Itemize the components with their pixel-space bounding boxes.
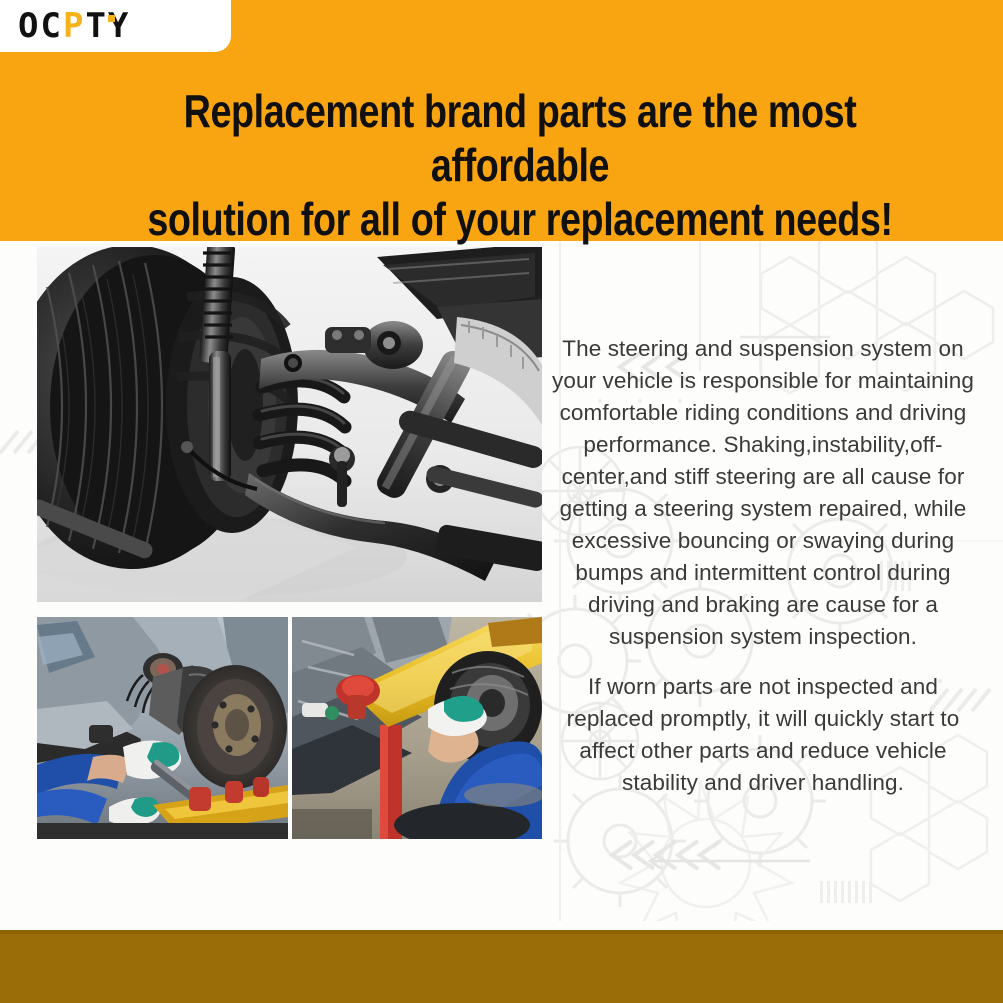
mechanic-brake-service-image bbox=[37, 617, 288, 839]
logo-part-ty: TY bbox=[85, 6, 130, 46]
page-headline: Replacement brand parts are the most aff… bbox=[143, 84, 897, 246]
brand-logo-text: OCPTY bbox=[18, 9, 130, 43]
header-band: OCPTY Replacement brand parts are the mo… bbox=[0, 0, 1003, 241]
logo-dot-icon bbox=[108, 15, 115, 22]
logo-part-oc: OC bbox=[18, 6, 63, 46]
footer-bar bbox=[0, 930, 1003, 1003]
headline-line-2: solution for all of your replacement nee… bbox=[143, 192, 897, 246]
vehicle-on-lift-image bbox=[292, 617, 542, 839]
description-paragraph-1: The steering and suspension system on yo… bbox=[552, 333, 974, 653]
logo-part-p-accent: P bbox=[63, 6, 85, 46]
main-product-image bbox=[37, 247, 542, 602]
brand-logo[interactable]: OCPTY bbox=[0, 0, 231, 52]
description-copy: The steering and suspension system on yo… bbox=[552, 333, 974, 799]
description-paragraph-2: If worn parts are not inspected and repl… bbox=[552, 671, 974, 799]
headline-line-1: Replacement brand parts are the most aff… bbox=[143, 84, 897, 192]
product-banner: OCPTY Replacement brand parts are the mo… bbox=[0, 0, 1003, 1003]
footer-bar-top-edge bbox=[0, 930, 1003, 934]
